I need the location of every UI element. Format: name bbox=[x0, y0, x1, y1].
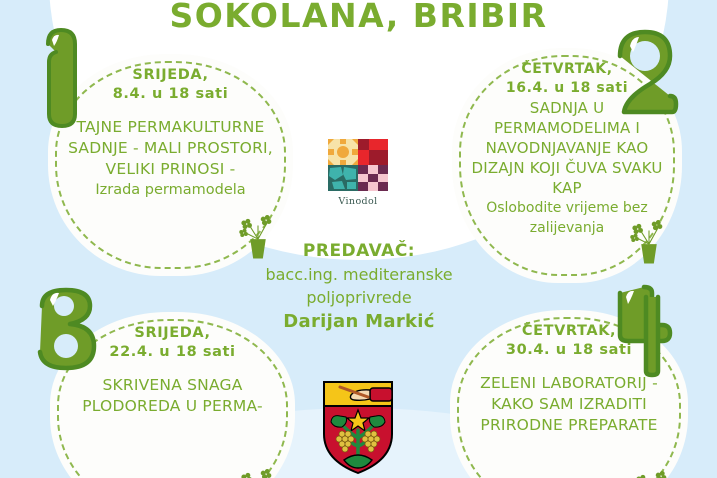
poster-canvas: SOKOLANA, BRIBIR SRIJEDA, 8.4. u 18 sati… bbox=[0, 0, 717, 478]
vinodol-coat-of-arms-icon bbox=[318, 378, 398, 476]
page-title: SOKOLANA, BRIBIR bbox=[0, 0, 717, 35]
vinodol-logo-caption: Vinodol bbox=[319, 196, 397, 207]
presenter-label: PREDAVAČ: bbox=[236, 240, 482, 263]
card-4-topic: ZELENI LABORATORIJ - KAKO SAM IZRADITI P… bbox=[466, 373, 672, 436]
presenter-block: PREDAVAČ: bacc.ing. mediteranske poljopr… bbox=[236, 240, 482, 334]
card-2-date: 16.4. u 18 sati bbox=[468, 79, 666, 98]
card-1-subtitle: Izrada permamodela bbox=[64, 180, 277, 201]
event-card-3: SRIJEDA, 22.4. u 18 sati SKRIVENA SNAGA … bbox=[50, 312, 295, 478]
card-1-day: SRIJEDA, bbox=[64, 66, 277, 85]
event-card-2: ČETVRTAK, 16.4. u 18 sati SADNJA U PERMA… bbox=[452, 48, 682, 283]
card-2-topic: SADNJA U PERMAMODELIMA I NAVODNJAVANJE K… bbox=[468, 98, 666, 198]
card-1-date: 8.4. u 18 sati bbox=[64, 85, 277, 104]
card-3-date: 22.4. u 18 sati bbox=[66, 343, 279, 362]
card-1-topic: TAJNE PERMAKULTURNE SADNJE - MALI PROSTO… bbox=[64, 117, 277, 180]
event-card-4: ČETVRTAK, 30.4. u 18 sati ZELENI LABORAT… bbox=[450, 310, 688, 478]
presenter-name: Darijan Markić bbox=[236, 309, 482, 334]
card-4-day: ČETVRTAK, bbox=[466, 322, 672, 341]
card-3-topic: SKRIVENA SNAGA PLODOREDA U PERMA- bbox=[66, 375, 279, 417]
card-2-day: ČETVRTAK, bbox=[468, 60, 666, 79]
vinodol-logo: Vinodol bbox=[319, 131, 397, 211]
vinodol-logo-icon bbox=[328, 139, 388, 191]
card-4-date: 30.4. u 18 sati bbox=[466, 341, 672, 360]
presenter-degree-line-2: poljoprivrede bbox=[236, 286, 482, 309]
card-2-subtitle: Oslobodite vrijeme bez zalijevanja bbox=[468, 198, 666, 238]
presenter-degree-line-1: bacc.ing. mediteranske bbox=[236, 263, 482, 286]
